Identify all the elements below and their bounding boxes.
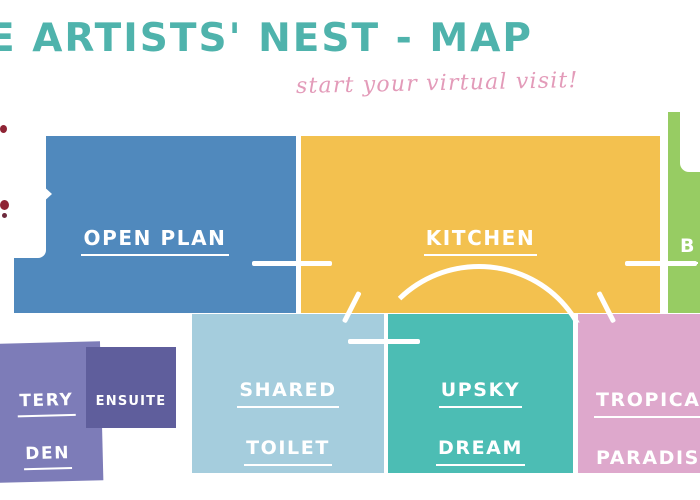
room-tropical-paradise[interactable]: TROPICAL PARADISE bbox=[578, 314, 700, 473]
room-label-open-plan: OPEN PLAN bbox=[14, 198, 296, 259]
room-ensuite[interactable]: ENSUITE bbox=[86, 347, 176, 428]
door-opening-kitchen-balcony bbox=[625, 261, 697, 266]
room-label-tropical-paradise: TROPICAL PARADISE bbox=[594, 362, 700, 479]
room-label-line: TOILET bbox=[244, 436, 332, 466]
room-label-line: DEN bbox=[23, 442, 72, 470]
room-label-line: PARADISE bbox=[594, 446, 700, 476]
callout-mark-icon bbox=[2, 213, 7, 218]
room-label-line: TERY bbox=[17, 389, 76, 418]
map-canvas: E ARTISTS' NEST - MAP start your virtual… bbox=[0, 0, 700, 500]
balcony-notch-cutout bbox=[680, 112, 700, 172]
room-label-ensuite: ENSUITE bbox=[86, 375, 176, 410]
callout-mark-icon bbox=[0, 200, 9, 210]
left-callout-tail-icon bbox=[30, 174, 52, 214]
door-opening-openplan-kitchen bbox=[252, 261, 332, 266]
room-label-line: B bbox=[678, 234, 698, 264]
callout-mark-icon bbox=[0, 125, 7, 133]
room-label-line: UPSKY bbox=[439, 378, 523, 408]
page-title: E ARTISTS' NEST - MAP bbox=[0, 16, 533, 61]
room-label-kitchen: KITCHEN bbox=[301, 198, 660, 259]
room-open-plan[interactable]: OPEN PLAN bbox=[14, 136, 296, 313]
room-label-line: TROPICAL bbox=[594, 388, 700, 418]
room-label-line: KITCHEN bbox=[424, 225, 538, 256]
room-label-balcony: B bbox=[678, 208, 698, 267]
room-label-line: OPEN PLAN bbox=[81, 225, 228, 256]
room-label-line: DREAM bbox=[436, 436, 525, 466]
map-subtitle: start your virtual visit! bbox=[296, 68, 579, 99]
room-label-line: SHARED bbox=[237, 378, 338, 408]
room-label-shared-toilet: SHARED TOILET bbox=[192, 352, 384, 469]
room-label-line: ENSUITE bbox=[96, 394, 167, 409]
room-shared-toilet[interactable]: SHARED TOILET bbox=[192, 314, 384, 473]
